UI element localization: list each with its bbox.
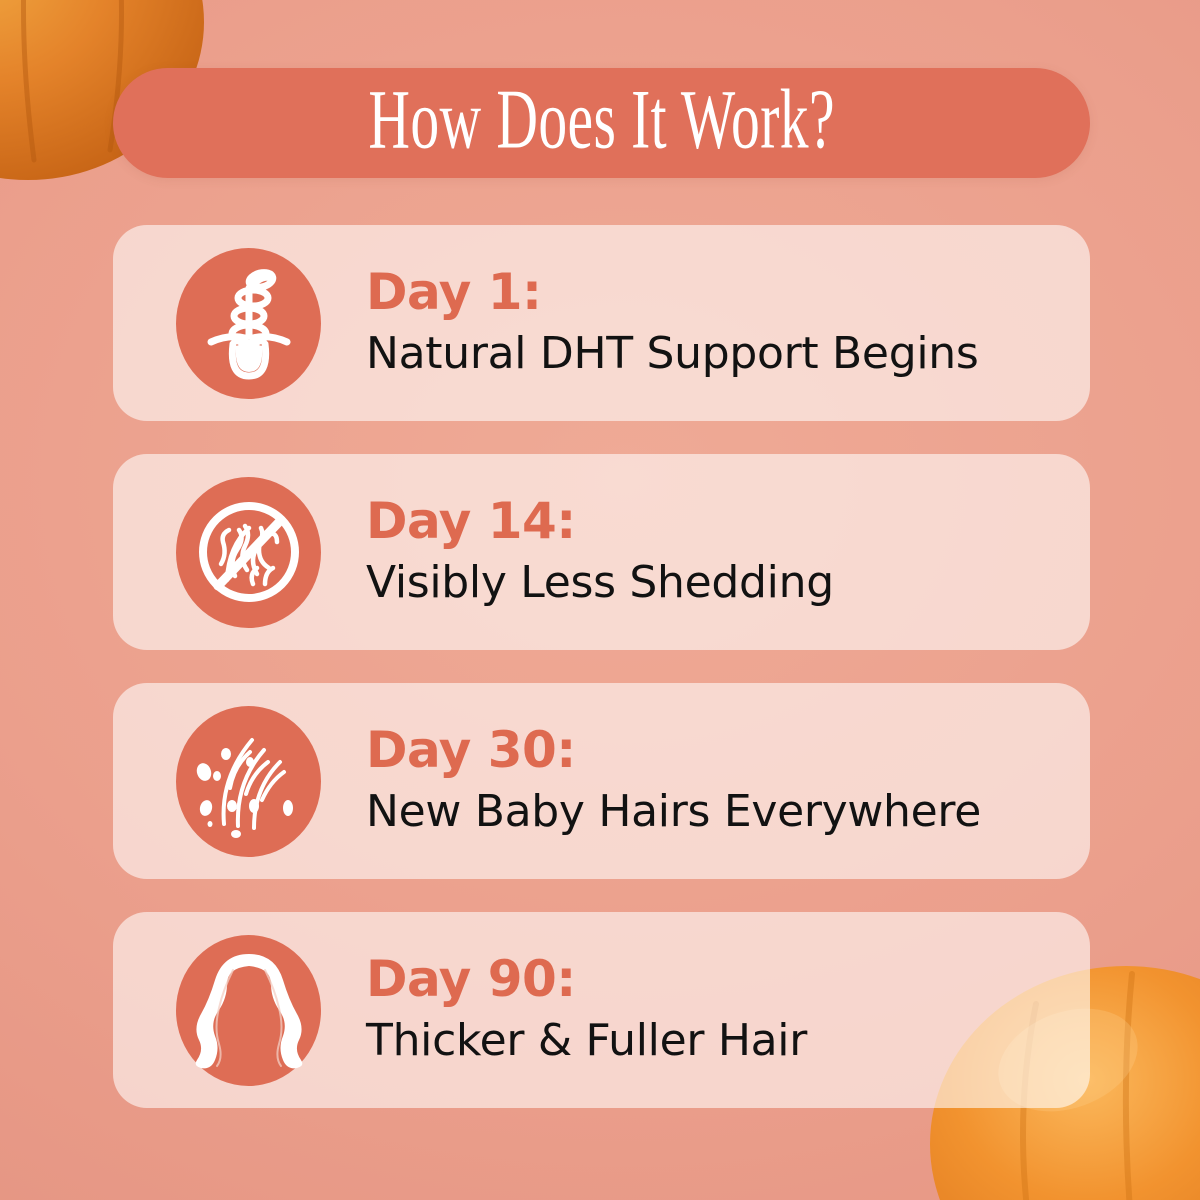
day-label: Day 30: <box>366 725 981 775</box>
timeline-card-day-90[interactable]: Day 90: Thicker & Fuller Hair <box>113 912 1090 1108</box>
card-text-day-30: Day 30: New Baby Hairs Everywhere <box>366 725 981 837</box>
scalp-new-growth-icon <box>176 706 321 857</box>
card-text-day-14: Day 14: Visibly Less Shedding <box>366 496 834 608</box>
page-title-banner: How Does It Work? <box>113 68 1090 178</box>
timeline-card-day-1[interactable]: Day 1: Natural DHT Support Begins <box>113 225 1090 421</box>
hair-follicle-icon <box>176 248 321 399</box>
day-description: Visibly Less Shedding <box>366 560 834 606</box>
long-wavy-hair-icon <box>176 935 321 1086</box>
day-label: Day 1: <box>366 267 978 317</box>
timeline-card-list: Day 1: Natural DHT Support Begins <box>113 225 1090 1108</box>
day-label: Day 14: <box>366 496 834 546</box>
card-text-day-90: Day 90: Thicker & Fuller Hair <box>366 954 807 1066</box>
card-text-day-1: Day 1: Natural DHT Support Begins <box>366 267 978 379</box>
day-description: Thicker & Fuller Hair <box>366 1018 807 1064</box>
timeline-card-day-30[interactable]: Day 30: New Baby Hairs Everywhere <box>113 683 1090 879</box>
infographic-canvas: How Does It Work? <box>0 0 1200 1200</box>
day-description: Natural DHT Support Begins <box>366 331 978 377</box>
day-label: Day 90: <box>366 954 807 1004</box>
day-description: New Baby Hairs Everywhere <box>366 789 981 835</box>
timeline-card-day-14[interactable]: Day 14: Visibly Less Shedding <box>113 454 1090 650</box>
no-shedding-icon <box>176 477 321 628</box>
page-title: How Does It Work? <box>368 77 835 168</box>
